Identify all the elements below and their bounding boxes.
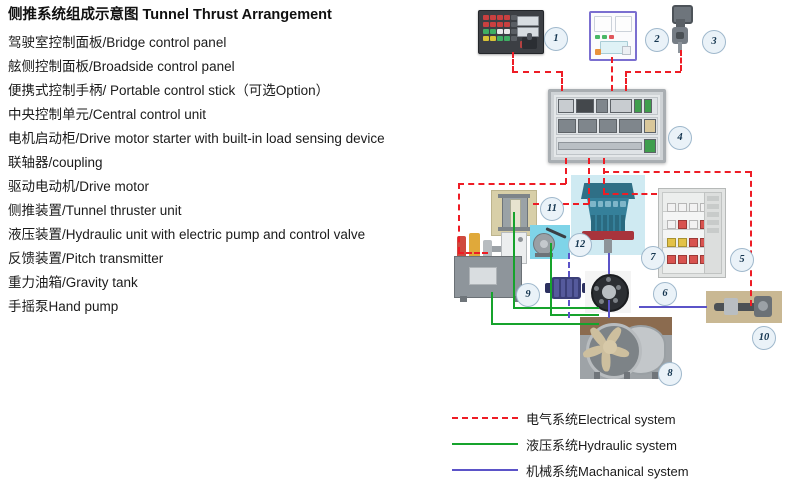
badge-12: 12 [568,233,592,257]
wire-hydraulic [550,314,599,316]
central-control-unit[interactable] [548,89,666,163]
wire-electrical [458,183,566,185]
wire-electrical [512,52,514,72]
wire-electrical [611,57,613,91]
pitch-transmitter-art [706,291,782,323]
list-item: 中央控制单元/Central control unit [8,103,463,127]
wire-electrical [458,183,460,253]
list-item: 重力油箱/Gravity tank [8,271,463,295]
wire-electrical [603,158,605,194]
part-list: 驾驶室控制面板/Bridge control panel 舷侧控制面板/Broa… [8,31,463,319]
portable-control-stick[interactable] [666,5,696,53]
badge-2: 2 [645,28,669,52]
wire-hydraulic [550,243,552,315]
legend-label: 机械系统Machanical system [526,461,689,480]
badge-3: 3 [702,30,726,54]
wire-electrical [603,193,657,195]
badge-1: 1 [544,27,568,51]
legend-swatch-hydraulic-icon [452,443,518,445]
badge-4: 4 [668,126,692,150]
legend-label: 电气系统Electrical system [526,409,676,428]
legend-item-mechanical: 机械系统Machanical system [452,457,689,483]
page-title: 侧推系统组成示意图 Tunnel Thrust Arrangement [8,6,463,24]
badge-9: 9 [516,283,540,307]
wire-mechanical [568,300,570,318]
wire-electrical [565,158,567,184]
motor-starter-cabinet[interactable] [658,188,726,278]
list-item: 电机启动柜/Drive motor starter with built-in … [8,127,463,151]
wire-hydraulic [491,323,599,325]
wire-mechanical [608,300,610,318]
legend-label: 液压系统Hydraulic system [526,435,677,454]
wire-electrical [458,252,488,254]
legend-swatch-electrical-icon [452,417,518,419]
badge-10: 10 [752,326,776,350]
diagram-page: 侧推系统组成示意图 Tunnel Thrust Arrangement 驾驶室控… [0,0,788,490]
motor-starter-cabinet-art [658,188,726,278]
badge-11: 11 [540,197,564,221]
list-item: 驾驶室控制面板/Bridge control panel [8,31,463,55]
legend-item-hydraulic: 液压系统Hydraulic system [452,431,689,457]
broadside-control-panel[interactable] [589,11,637,61]
portable-control-stick-art [666,5,696,53]
list-item: 手摇泵Hand pump [8,295,463,319]
bridge-control-panel-art [478,10,544,54]
wire-electrical [750,171,752,306]
list-item: 舷侧控制面板/Broadside control panel [8,55,463,79]
legend-item-electrical: 电气系统Electrical system [452,405,689,431]
wire-electrical [561,71,563,91]
wire-hydraulic [491,292,493,324]
wire-mechanical [568,253,570,277]
wire-mechanical [639,306,707,308]
legend: 电气系统Electrical system 液压系统Hydraulic syst… [452,405,689,483]
wire-electrical [603,171,751,173]
wire-hydraulic [513,307,599,309]
badge-7: 7 [641,246,665,270]
wire-hydraulic [513,212,515,308]
pitch-transmitter[interactable] [706,291,782,323]
badge-6: 6 [653,282,677,306]
wire-electrical [588,158,590,204]
wire-electrical [680,50,682,71]
list-item: 便携式控制手柄/ Portable control stick（可选Option… [8,79,463,103]
list-item: 驱动电动机/Drive motor [8,175,463,199]
wire-mechanical [608,253,610,274]
list-item: 侧推装置/Tunnel thruster unit [8,199,463,223]
wire-electrical [512,71,562,73]
list-item: 联轴器/coupling [8,151,463,175]
wire-electrical [625,71,627,91]
list-item: 液压装置/Hydraulic unit with electric pump a… [8,223,463,247]
bridge-control-panel[interactable] [478,10,544,54]
legend-swatch-mechanical-icon [452,469,518,471]
badge-8: 8 [658,362,682,386]
central-control-unit-art [548,89,666,163]
broadside-control-panel-art [589,11,637,61]
list-item: 反馈装置/Pitch transmitter [8,247,463,271]
badge-5: 5 [730,248,754,272]
part-list-panel: 侧推系统组成示意图 Tunnel Thrust Arrangement 驾驶室控… [8,6,463,319]
wire-electrical [625,71,681,73]
